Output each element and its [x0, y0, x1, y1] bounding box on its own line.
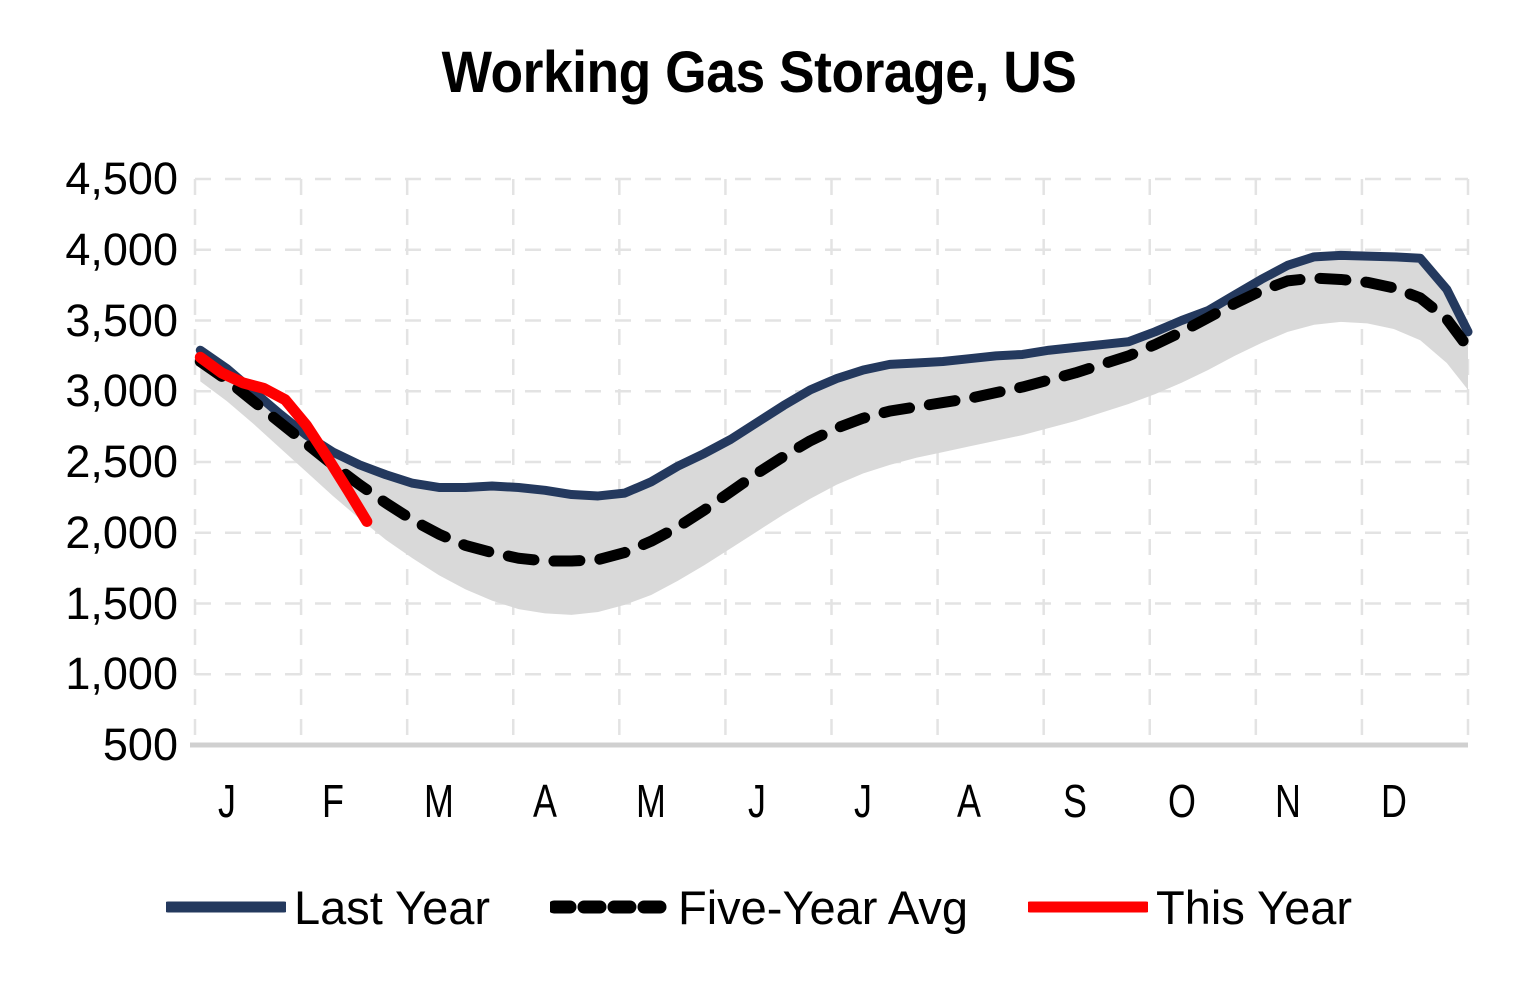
x-axis-tick-label: N: [1256, 778, 1318, 824]
y-axis-tick-label: 1,500: [23, 581, 178, 626]
five-year-range-band: [200, 255, 1468, 614]
legend-swatch-solid-line-icon: [1028, 892, 1148, 922]
legend-swatch-dashed-line-icon: [550, 892, 670, 922]
legend-label: Last Year: [294, 884, 490, 931]
y-axis-tick-label: 1,000: [23, 651, 178, 696]
y-axis-tick-label: 500: [23, 722, 178, 767]
x-axis-tick-label: J: [832, 778, 894, 824]
x-axis-tick-label: O: [1150, 778, 1212, 824]
y-axis-tick-label: 3,500: [23, 298, 178, 343]
legend-item[interactable]: Last Year: [166, 884, 490, 931]
legend-label: Five-Year Avg: [678, 884, 968, 931]
legend-swatch-solid-line-icon: [166, 892, 286, 922]
y-axis: 4,5004,0003,5003,0002,5002,0001,5001,000…: [0, 0, 178, 860]
plot-area: 4,5004,0003,5003,0002,5002,0001,5001,000…: [0, 0, 1518, 860]
y-axis-tick-label: 3,000: [23, 368, 178, 413]
x-axis: JFMAMJJASOND: [195, 778, 1468, 838]
x-axis-tick-label: F: [302, 778, 364, 824]
x-axis-tick-label: A: [514, 778, 576, 824]
chart-legend: Last YearFive-Year AvgThis Year: [0, 872, 1518, 942]
x-axis-tick-label: M: [620, 778, 682, 824]
chart-root: Working Gas Storage, US 4,5004,0003,5003…: [0, 0, 1518, 990]
y-axis-tick-label: 4,500: [23, 156, 178, 201]
x-axis-tick-label: M: [408, 778, 470, 824]
x-axis-tick-label: S: [1044, 778, 1106, 824]
legend-item[interactable]: Five-Year Avg: [550, 884, 968, 931]
legend-label: This Year: [1156, 884, 1352, 931]
chart-canvas: [0, 0, 1518, 860]
y-axis-tick-label: 4,000: [23, 227, 178, 272]
x-axis-tick-label: J: [196, 778, 258, 824]
x-axis-tick-label: A: [938, 778, 1000, 824]
y-axis-tick-label: 2,000: [23, 510, 178, 555]
legend-item[interactable]: This Year: [1028, 884, 1352, 931]
y-axis-tick-label: 2,500: [23, 439, 178, 484]
x-axis-tick-label: J: [726, 778, 788, 824]
x-axis-tick-label: D: [1363, 778, 1425, 824]
